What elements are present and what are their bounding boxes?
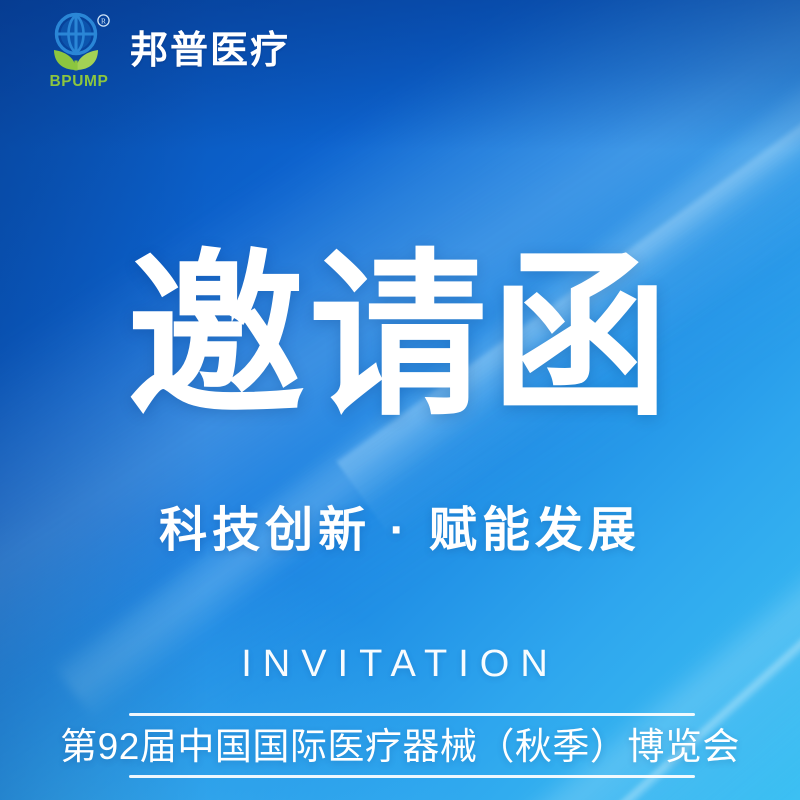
bpump-logo: R BPUMP (46, 12, 112, 90)
event-name: 第92届中国国际医疗器械（秋季）博览会 (0, 728, 800, 765)
divider-top (129, 713, 695, 716)
registered-trademark-icon: R (98, 15, 109, 26)
svg-text:R: R (101, 17, 106, 26)
page-title: 邀请函 (0, 248, 800, 426)
invitation-poster: R BPUMP 邦普医疗 邀请函 科技创新 · 赋能发展 INVITATIO (0, 0, 800, 800)
english-label: INVITATION (0, 645, 800, 683)
brand-name: 邦普医疗 (130, 32, 290, 70)
footer-block: 第92届中国国际医疗器械（秋季）博览会 (0, 690, 800, 800)
poster-content: R BPUMP 邦普医疗 邀请函 科技创新 · 赋能发展 INVITATIO (0, 0, 800, 800)
globe-grid-icon (57, 15, 96, 54)
slogan-text: 科技创新 · 赋能发展 (0, 507, 800, 555)
logo-wordmark: BPUMP (50, 73, 109, 90)
divider-bottom (129, 775, 695, 778)
brand-lockup: R BPUMP 邦普医疗 (46, 12, 290, 90)
